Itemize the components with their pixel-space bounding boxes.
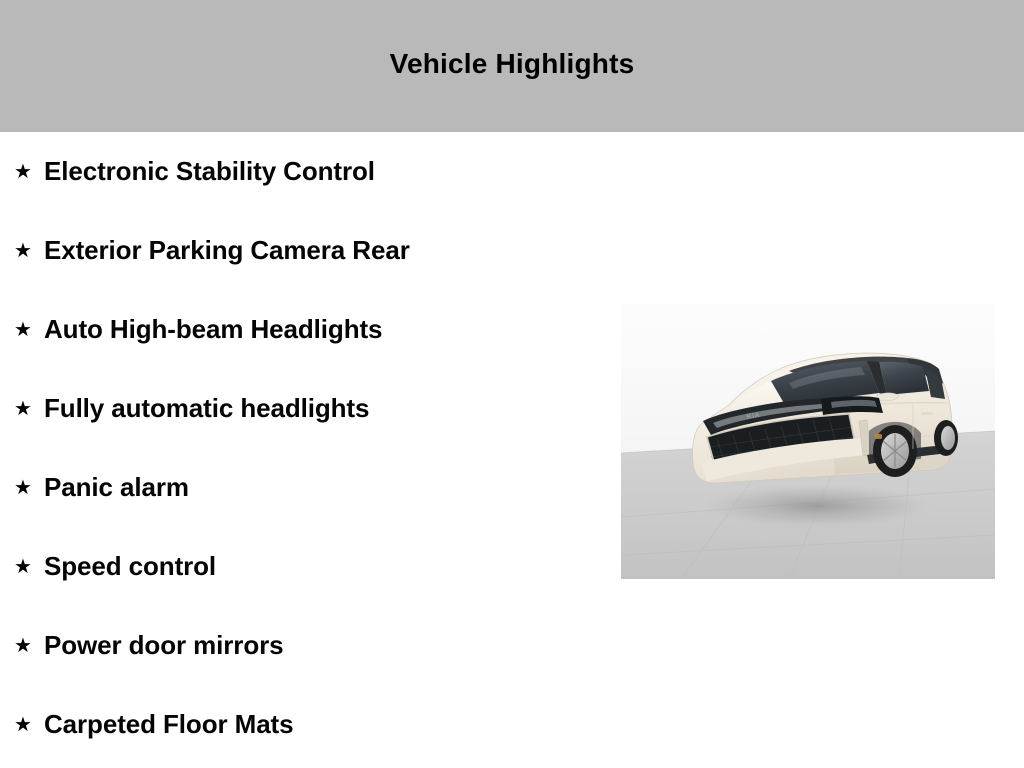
list-item: ★ Power door mirrors xyxy=(0,606,600,685)
side-marker-light xyxy=(875,434,882,439)
star-bullet-icon: ★ xyxy=(14,399,44,419)
header-band: Vehicle Highlights xyxy=(0,0,1024,132)
vehicle-photo: KIA xyxy=(621,303,995,579)
highlight-label: Fully automatic headlights xyxy=(44,393,369,424)
list-item: ★ Speed control xyxy=(0,527,600,606)
star-bullet-icon: ★ xyxy=(14,241,44,261)
door-handle xyxy=(921,412,933,415)
highlight-label: Speed control xyxy=(44,551,216,582)
vehicle-shadow xyxy=(699,484,935,528)
list-item: ★ Exterior Parking Camera Rear xyxy=(0,211,600,290)
vehicle-photo-image: KIA xyxy=(621,303,995,579)
star-bullet-icon: ★ xyxy=(14,478,44,498)
highlight-label: Panic alarm xyxy=(44,472,189,503)
page-title: Vehicle Highlights xyxy=(0,48,1024,80)
list-item: ★ Auto High-beam Headlights xyxy=(0,290,600,369)
list-item: ★ Carpeted Floor Mats xyxy=(0,685,600,764)
star-bullet-icon: ★ xyxy=(14,557,44,577)
front-side-window xyxy=(879,362,929,395)
highlight-label: Carpeted Floor Mats xyxy=(44,709,293,740)
highlight-label: Power door mirrors xyxy=(44,630,283,661)
star-bullet-icon: ★ xyxy=(14,715,44,735)
highlight-label: Exterior Parking Camera Rear xyxy=(44,235,410,266)
star-bullet-icon: ★ xyxy=(14,162,44,182)
highlight-label: Electronic Stability Control xyxy=(44,156,375,187)
list-item: ★ Panic alarm xyxy=(0,448,600,527)
star-bullet-icon: ★ xyxy=(14,320,44,340)
front-wheel xyxy=(873,425,917,477)
vehicle-highlights-list: ★ Electronic Stability Control ★ Exterio… xyxy=(0,132,600,764)
star-bullet-icon: ★ xyxy=(14,636,44,656)
highlight-label: Auto High-beam Headlights xyxy=(44,314,382,345)
rear-wheel xyxy=(934,420,958,456)
list-item: ★ Fully automatic headlights xyxy=(0,369,600,448)
list-item: ★ Electronic Stability Control xyxy=(0,132,600,211)
